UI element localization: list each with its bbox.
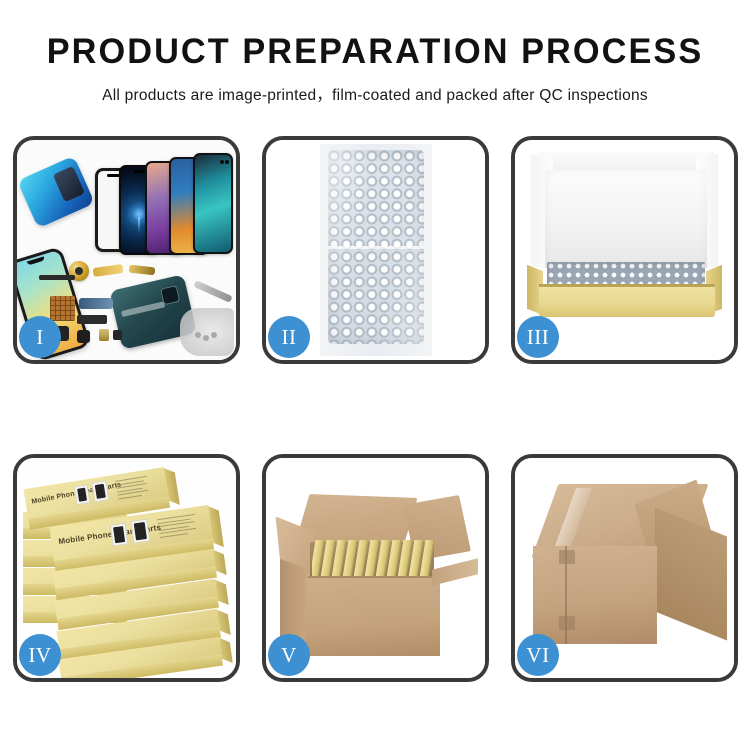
box-screen-thumb-3 bbox=[110, 523, 129, 547]
page-title: PRODUCT PREPARATION PROCESS bbox=[8, 34, 743, 69]
stacked-box-labeled-top: Mobile Phone Spare Parts bbox=[24, 467, 169, 519]
bubble-wrap-gloss bbox=[328, 150, 424, 344]
chip-grid-icon bbox=[50, 296, 75, 321]
sealed-carton-side bbox=[655, 507, 727, 640]
carton-flap-front bbox=[432, 558, 478, 585]
sealed-carton-front bbox=[533, 546, 657, 644]
step-badge-6: VI bbox=[517, 634, 559, 676]
phone-display-teal-icon bbox=[193, 153, 233, 254]
step-panel-6: VI bbox=[511, 454, 738, 682]
step-panel-3: III bbox=[511, 136, 738, 364]
carton-tab-top bbox=[559, 550, 575, 564]
box-screen-thumb-1 bbox=[74, 484, 91, 505]
process-grid: I II III bbox=[13, 136, 737, 682]
small-part-icon-3 bbox=[113, 330, 122, 340]
tweezers-icon bbox=[193, 280, 232, 303]
screws-icon bbox=[195, 332, 217, 340]
step-badge-1: I bbox=[19, 316, 61, 358]
infographic-page: PRODUCT PREPARATION PROCESS All products… bbox=[0, 0, 750, 750]
flex-cable-icon-2 bbox=[129, 265, 156, 276]
step-badge-3: III bbox=[517, 316, 559, 358]
flex-cable-icon-3 bbox=[79, 298, 113, 309]
step-panel-5: V bbox=[262, 454, 489, 682]
step-panel-1: I bbox=[13, 136, 240, 364]
flex-cable-icon-1 bbox=[93, 264, 124, 277]
antenna-bar-icon bbox=[39, 275, 75, 280]
flex-cable-icon-4 bbox=[77, 315, 107, 324]
header: PRODUCT PREPARATION PROCESS All products… bbox=[0, 0, 750, 105]
carton-tab-bottom bbox=[559, 616, 575, 630]
camera-module-icon bbox=[77, 330, 90, 343]
step-badge-4: IV bbox=[19, 634, 61, 676]
step-panel-2: II bbox=[262, 136, 489, 364]
phone-display-fan bbox=[69, 152, 236, 260]
box-stack: Mobile Phone Spare Parts Mobile Phone Sp… bbox=[23, 472, 236, 668]
box-screen-thumb-4 bbox=[130, 519, 150, 544]
step-badge-5: V bbox=[268, 634, 310, 676]
small-part-icon-2 bbox=[99, 329, 109, 341]
carton-front-panel bbox=[306, 578, 440, 656]
kraft-box-front bbox=[539, 287, 715, 317]
page-subtitle: All products are image-printed，film-coat… bbox=[0, 83, 750, 105]
step-panel-4: Mobile Phone Spare Parts Mobile Phone Sp… bbox=[13, 454, 240, 682]
box-screen-thumb-2 bbox=[91, 480, 109, 502]
step-badge-2: II bbox=[268, 316, 310, 358]
box-inner-back bbox=[545, 170, 707, 268]
